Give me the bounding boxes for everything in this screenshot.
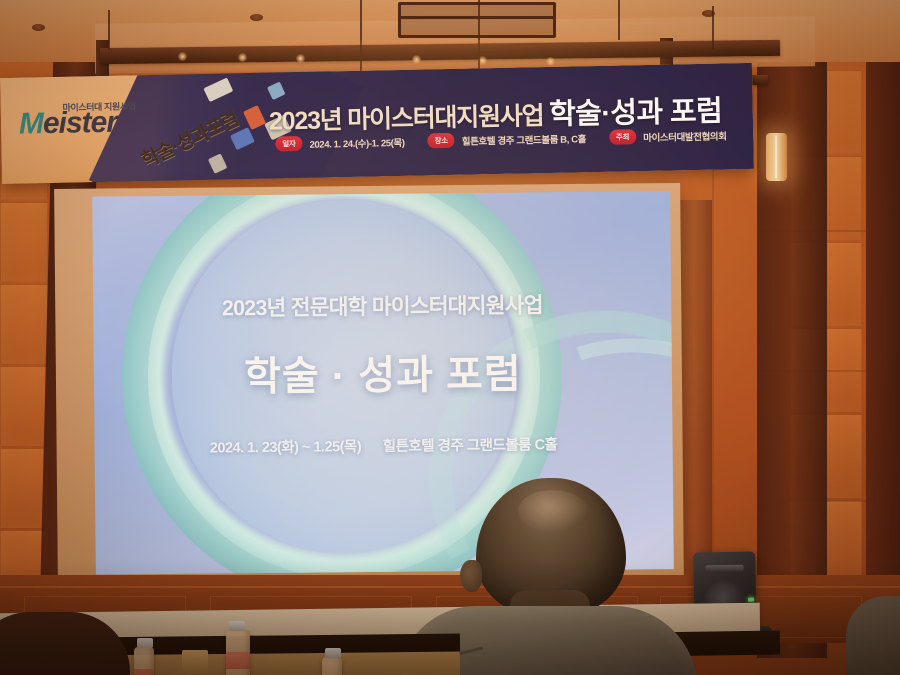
bottle-cap [325, 648, 341, 658]
water-bottle [322, 657, 342, 675]
truss-light-icon [296, 54, 305, 63]
slide-eyebrow: 2023년 전문대학 마이스터대지원사업 [93, 287, 671, 324]
bottle-label [134, 669, 154, 675]
ceiling-drop-wire [108, 10, 110, 50]
head-highlight [518, 490, 588, 532]
wall-panel [0, 448, 48, 528]
banner-meta-badge-date: 일자 [275, 136, 302, 152]
water-bottle [226, 630, 250, 675]
wall-panel [0, 284, 48, 364]
slide-date: 2024. 1. 23(화) ~ 1.25(목) [210, 439, 361, 456]
ceiling-downlight-icon [250, 14, 263, 21]
ceiling-drop-wire [712, 6, 714, 50]
iso-person-icon [243, 105, 266, 130]
banner-meta-text-venue: 힐튼호텔 경주 그랜드볼룸 B, C홀 [462, 131, 586, 147]
pa-speaker-signal-led [748, 597, 754, 601]
ceiling-downlight-icon [32, 24, 45, 31]
ceiling-drop-wire [618, 0, 620, 40]
bottle-label [226, 652, 250, 669]
logo-mark-m: M [19, 107, 44, 140]
logo-wordmark: Meister [19, 108, 118, 140]
banner-meta-badge-host: 주최 [609, 129, 636, 145]
event-banner: 마이스터대 지원사업 Meister 학술·성과포럼 2023년 마이스터대지원… [0, 63, 754, 184]
wall-panel [0, 366, 48, 446]
truss-light-icon [412, 55, 421, 64]
banner-meta-text-host: 마이스터대발전협의회 [643, 128, 727, 144]
table-nameplate-block [182, 650, 208, 674]
banner-title-main: 학술·성과 포럼 [549, 96, 723, 131]
wall-pilaster-far-right [866, 0, 900, 675]
banner-meta-badge-venue: 장소 [427, 133, 454, 149]
truss-light-icon [238, 53, 247, 62]
truss-light-icon [178, 52, 187, 61]
slide-title: 학술 · 성과 포럼 [94, 340, 673, 404]
bottle-cap [229, 621, 245, 631]
audience-member-ear [460, 560, 482, 592]
ceiling-truss-frame [398, 2, 556, 38]
iso-books-icon [208, 153, 227, 173]
pa-speaker-handle [705, 565, 743, 573]
conference-hall-photo: 마이스터대 지원사업 Meister 학술·성과포럼 2023년 마이스터대지원… [0, 0, 900, 675]
iso-desk-icon [203, 77, 233, 102]
logo-wordmark-text: eister [43, 106, 118, 140]
bottle-cap [137, 638, 153, 648]
banner-illustration-word: 학술·성과포럼 [137, 104, 243, 173]
slide-venue: 힐튼호텔 경주 그랜드볼룸 C홀 [383, 437, 558, 455]
banner-title-year: 2023년 마이스터대지원사업 [269, 102, 544, 136]
banner-meta-text-date: 2024. 1. 24.(수)-1. 25(목) [309, 134, 404, 150]
wall-panel [0, 202, 48, 282]
wall-sconce-light [766, 133, 787, 181]
truss-light-icon [546, 57, 555, 66]
slide-text-block: 2023년 전문대학 마이스터대지원사업 학술 · 성과 포럼 2024. 1.… [93, 287, 673, 459]
water-bottle [134, 647, 154, 675]
